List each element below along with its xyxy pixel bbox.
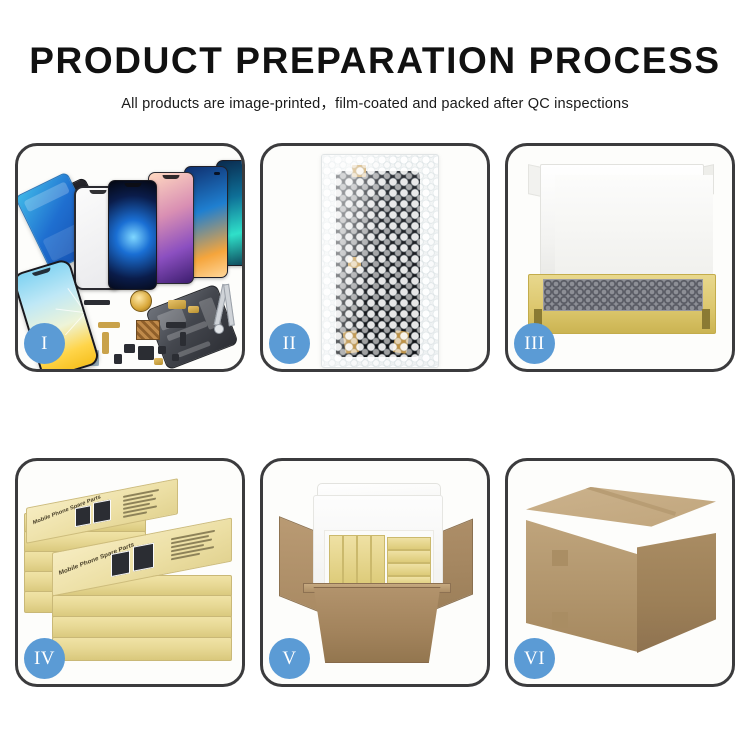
step-badge-1: I (24, 323, 65, 364)
panel-step-2[interactable]: II (260, 143, 490, 372)
step-badge-6: VI (514, 638, 555, 679)
box-window-right-front (133, 543, 154, 572)
step-badge-2: II (269, 323, 310, 364)
page-title: PRODUCT PREPARATION PROCESS (0, 0, 750, 81)
panel-step-4[interactable]: Mobile Phone Spare Parts (15, 458, 245, 687)
phone-screen-fan (74, 160, 242, 295)
box-window-left-front (111, 550, 130, 577)
panel-step-5[interactable]: V (260, 458, 490, 687)
carton-front-face (526, 520, 638, 652)
kraft-box-tray (528, 274, 716, 334)
carton-body (305, 587, 449, 663)
white-foam-lid (540, 164, 704, 288)
phone-screen-2-icon (108, 180, 157, 290)
panel-step-3[interactable]: III (505, 143, 735, 372)
bubble-wrap-bag-icon (321, 154, 439, 368)
step-badge-3: III (514, 323, 555, 364)
bubble-wrapped-contents (543, 279, 703, 311)
carton-side-face (637, 533, 716, 653)
header: PRODUCT PREPARATION PROCESS All products… (0, 0, 750, 113)
open-carton-icon (279, 483, 473, 663)
box-text-lines-front (171, 529, 221, 563)
styrofoam-insert (313, 495, 443, 593)
foam-surface (555, 175, 713, 279)
tray-corner-right (702, 309, 710, 329)
page-subtitle: All products are image-printed，film-coat… (0, 81, 750, 113)
step-badge-5: V (269, 638, 310, 679)
spare-parts-cluster (84, 288, 224, 369)
process-panel-grid: I II (15, 143, 735, 688)
panel-step-6[interactable]: VI (505, 458, 735, 687)
box-window-right (93, 499, 111, 523)
step-badge-4: IV (24, 638, 65, 679)
infographic-page: PRODUCT PREPARATION PROCESS All products… (0, 0, 750, 750)
tweezers-icon (204, 284, 240, 336)
panel-step-1[interactable]: I (15, 143, 245, 372)
plastic-sheen (322, 155, 438, 367)
foam-cavity (324, 530, 434, 588)
stacked-boxes-icon: Mobile Phone Spare Parts (24, 479, 236, 665)
box-text-lines (123, 488, 163, 520)
sealed-carton-icon (526, 487, 716, 661)
open-box-icon (528, 164, 714, 334)
box-window-left (75, 505, 91, 527)
